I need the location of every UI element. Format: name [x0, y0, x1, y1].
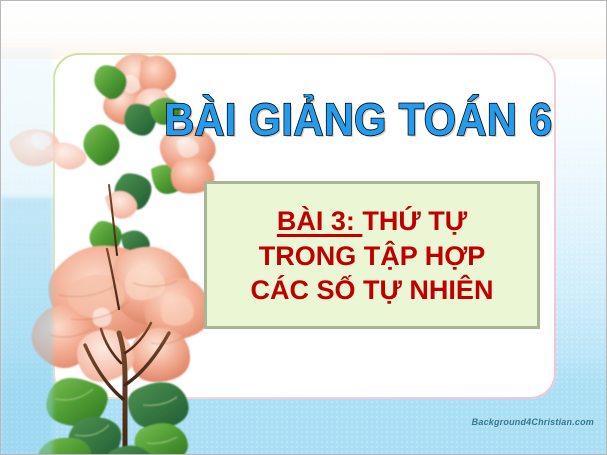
lesson-line-3: CÁC SỐ TỰ NHIÊN: [251, 273, 494, 308]
lesson-line-1: BÀI 3: THỨ TỰ: [277, 204, 467, 239]
lesson-number-label: BÀI 3:: [277, 206, 363, 236]
page-title: BÀI GIẢNG TOÁN 6: [164, 97, 468, 142]
watermark-text: Background4Christian.com: [472, 417, 594, 427]
lesson-line-1-rest: THỨ TỰ: [362, 206, 467, 236]
lesson-title-box: BÀI 3: THỨ TỰ TRONG TẬP HỢP CÁC SỐ TỰ NH…: [204, 181, 540, 329]
lesson-line-2: TRONG TẬP HỢP: [259, 239, 486, 274]
presentation-slide: BÀI GIẢNG TOÁN 6 BÀI 3: THỨ TỰ TRONG TẬP…: [0, 0, 607, 455]
